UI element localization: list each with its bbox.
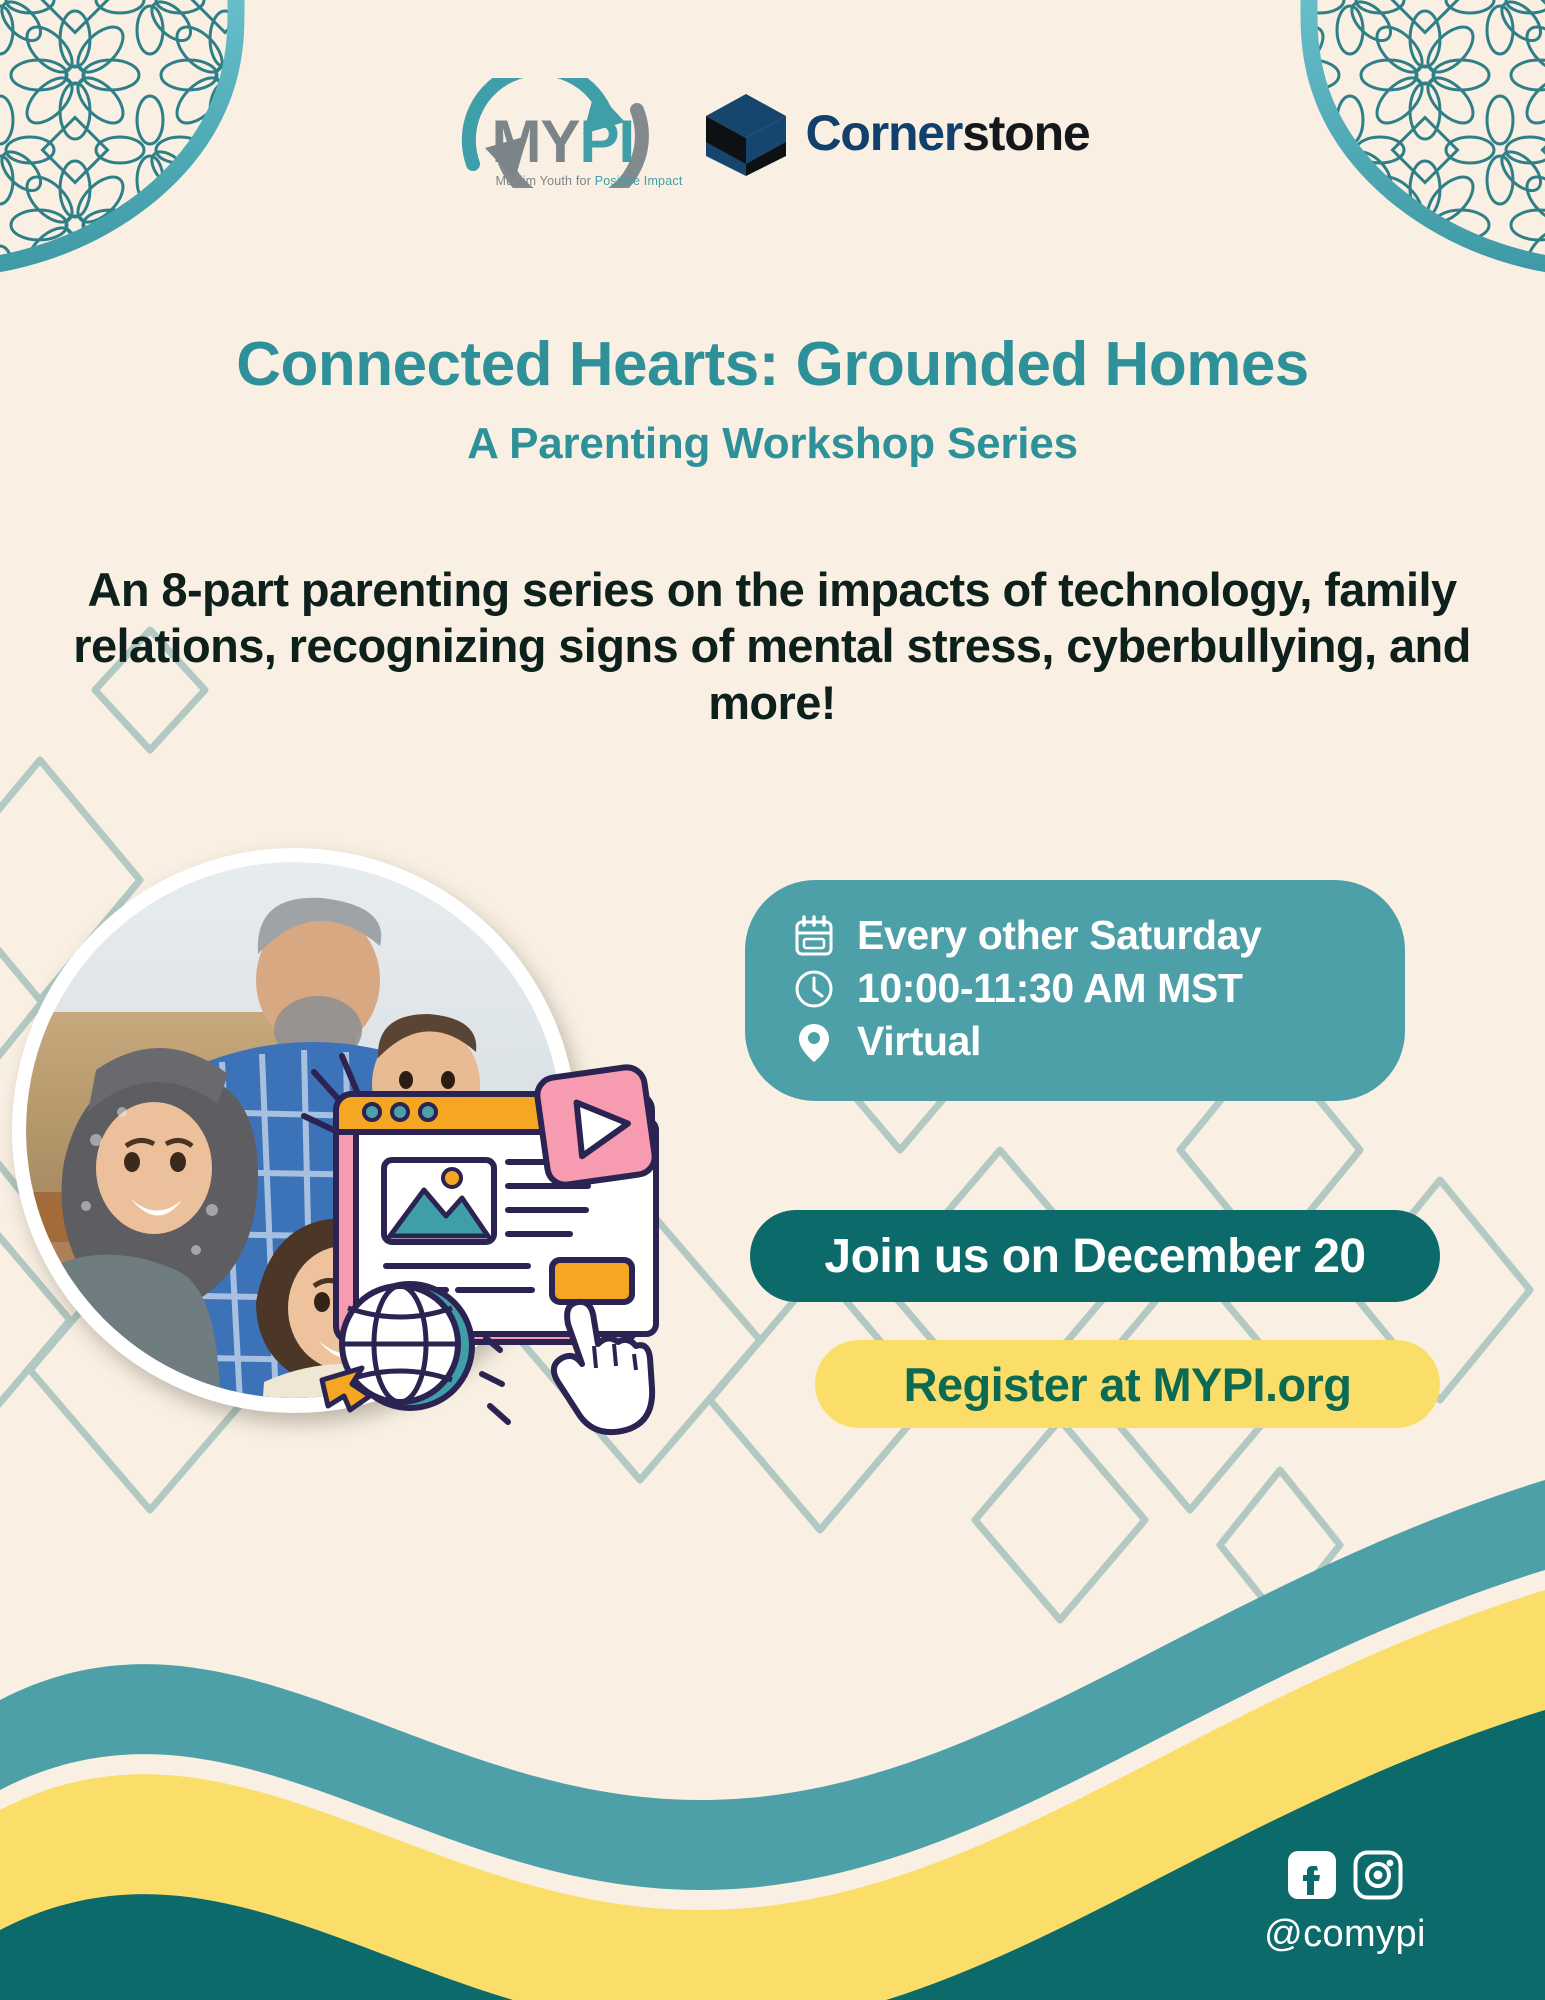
event-detail-row: 10:00-11:30 AM MST (791, 965, 1405, 1012)
browser-window-illustration (300, 1050, 720, 1450)
cornerstone-word-b: stone (962, 105, 1089, 161)
cornerstone-wordmark: Cornerstone (805, 108, 1089, 158)
join-date-button[interactable]: Join us on December 20 (750, 1210, 1440, 1302)
calendar-icon (791, 913, 837, 959)
mypi-word-pi: PI (579, 108, 634, 175)
location-pin-icon (791, 1019, 837, 1065)
social-icon-row (1215, 1849, 1475, 1901)
mypi-tagline-b: Positive Impact (595, 174, 683, 188)
mypi-logo: MYPI Muslim Youth for Positive Impact (455, 78, 655, 188)
register-label: Register at MYPI.org (904, 1357, 1352, 1412)
event-detail-row: Every other Saturday (791, 912, 1405, 959)
join-date-label: Join us on December 20 (824, 1229, 1365, 1284)
mypi-wordmark: MYPI (491, 112, 634, 172)
event-location-text: Virtual (857, 1018, 981, 1065)
instagram-icon[interactable] (1352, 1849, 1404, 1901)
register-button[interactable]: Register at MYPI.org (815, 1340, 1440, 1428)
description-text: An 8-part parenting series on the impact… (72, 562, 1472, 731)
mypi-tagline-a: Muslim Youth for (495, 174, 594, 188)
logo-row: MYPI Muslim Youth for Positive Impact Co… (0, 78, 1545, 188)
facebook-icon[interactable] (1286, 1849, 1338, 1901)
cornerstone-cube-icon (701, 90, 791, 176)
event-time-text: 10:00-11:30 AM MST (857, 965, 1242, 1012)
cornerstone-word-a: Corner (805, 105, 962, 161)
event-detail-row: Virtual (791, 1018, 1405, 1065)
social-footer: @comypi (1215, 1849, 1475, 1956)
title-block: Connected Hearts: Grounded Homes A Paren… (0, 332, 1545, 469)
event-date-text: Every other Saturday (857, 912, 1261, 959)
page-title: Connected Hearts: Grounded Homes (0, 332, 1545, 397)
page-subtitle: A Parenting Workshop Series (0, 419, 1545, 469)
poster-root: MYPI Muslim Youth for Positive Impact Co… (0, 0, 1545, 2000)
cornerstone-logo: Cornerstone (701, 90, 1089, 176)
event-details-panel: Every other Saturday 10:00-11:30 AM MST … (745, 880, 1405, 1101)
social-handle: @comypi (1215, 1913, 1475, 1956)
mypi-tagline: Muslim Youth for Positive Impact (495, 174, 682, 188)
mypi-word-my: MY (491, 108, 579, 175)
clock-icon (791, 966, 837, 1012)
